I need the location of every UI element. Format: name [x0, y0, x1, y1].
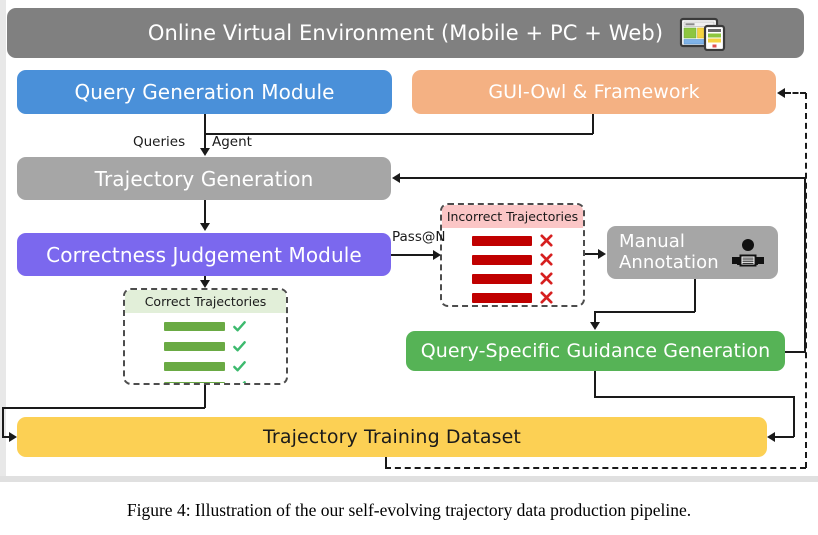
- edge-guiowl-to-junction: [205, 133, 593, 135]
- figure-caption: Figure 4: Illustration of the our self-e…: [0, 500, 818, 521]
- edge-label-agent: Agent: [212, 134, 252, 150]
- edge-arrowhead: [590, 322, 600, 330]
- card-title: Correct Trajectories: [125, 290, 286, 313]
- diagram-canvas: Online Virtual Environment (Mobile + PC …: [0, 0, 818, 482]
- edge-arrowhead: [598, 249, 606, 259]
- cross-icon: [539, 271, 554, 286]
- edge-arrowhead: [433, 250, 441, 260]
- trajectory-bar: [472, 293, 532, 303]
- list-item: [472, 233, 554, 248]
- edge-manual-down: [694, 279, 696, 312]
- incorrect-trajectory-rows: [442, 228, 583, 305]
- list-item: [472, 252, 554, 267]
- node-label: Online Virtual Environment (Mobile + PC …: [148, 21, 663, 45]
- card-title: Incorrect Trajectories: [442, 205, 583, 228]
- list-item: [472, 290, 554, 305]
- node-trajectory-training-dataset[interactable]: Trajectory Training Dataset: [17, 417, 767, 457]
- node-gui-owl-framework[interactable]: GUI-Owl & Framework: [412, 70, 776, 114]
- trajectory-bar: [472, 274, 532, 284]
- trajectory-bar: [164, 342, 225, 351]
- node-correctness-judgement-module[interactable]: Correctness Judgement Module: [17, 233, 391, 276]
- edge-arrowhead: [200, 223, 210, 231]
- figure-page: Online Virtual Environment (Mobile + PC …: [0, 0, 818, 535]
- edge-manual-left: [594, 311, 695, 313]
- edge-guidance-to-trajectory: [400, 177, 806, 179]
- edge-guidance-down: [594, 371, 596, 397]
- trajectory-bar: [164, 382, 225, 385]
- node-label: Trajectory Generation: [95, 167, 314, 191]
- check-icon: [232, 339, 247, 354]
- edge-guidance-right: [785, 351, 806, 353]
- node-query-generation-module[interactable]: Query Generation Module: [17, 70, 392, 114]
- node-label: Query Generation Module: [74, 80, 334, 104]
- edge-to-dataset-down: [793, 396, 795, 437]
- cross-icon: [539, 290, 554, 305]
- edge-label-queries: Queries: [133, 134, 185, 150]
- cross-icon: [539, 252, 554, 267]
- list-item: [164, 359, 247, 374]
- edge-dataset-right-dashed: [385, 467, 806, 469]
- check-icon: [232, 359, 247, 374]
- node-label: Trajectory Training Dataset: [263, 426, 521, 448]
- node-label: Correctness Judgement Module: [46, 243, 362, 267]
- canvas-bottom-edge: [0, 476, 818, 482]
- card-incorrect-trajectories: Incorrect Trajectories: [440, 203, 585, 307]
- edge-correctness-to-incorrect-card: [391, 254, 437, 256]
- node-online-virtual-environment[interactable]: Online Virtual Environment (Mobile + PC …: [7, 8, 804, 58]
- node-query-specific-guidance-generation[interactable]: Query-Specific Guidance Generation: [406, 331, 785, 371]
- edge-query-to-trajectory: [204, 114, 206, 150]
- trajectory-bar: [472, 255, 532, 265]
- card-correct-trajectories: Correct Trajectories: [123, 288, 288, 385]
- edge-label-pass-at-n: Pass@N: [392, 229, 445, 245]
- edge-dataset-to-guiowl-dashed: [785, 92, 806, 94]
- edge-correct-card-to-dataset: [2, 407, 4, 436]
- edge-trajectory-to-correctness: [204, 200, 206, 225]
- edge-arrowhead: [777, 88, 785, 98]
- edge-to-dataset-left: [775, 436, 794, 438]
- check-icon: [232, 319, 247, 334]
- person-at-desk-icon: [727, 237, 769, 274]
- edge-arrowhead: [200, 280, 210, 288]
- edge-arrowhead: [9, 432, 17, 442]
- list-item: [472, 271, 554, 286]
- trajectory-bar: [472, 236, 532, 246]
- correct-trajectory-rows: [125, 313, 286, 385]
- edge-guidance-right-lower: [594, 396, 795, 398]
- edge-dataset-up-dashed: [805, 93, 807, 468]
- cross-icon: [539, 233, 554, 248]
- check-icon: [232, 379, 247, 385]
- edge-correct-card-left: [2, 407, 205, 409]
- edge-guiowl-down: [592, 114, 594, 134]
- list-item: [164, 339, 247, 354]
- node-manual-annotation[interactable]: Manual Annotation: [607, 226, 778, 279]
- node-label: GUI-Owl & Framework: [488, 81, 699, 103]
- edge-arrowhead: [200, 148, 210, 156]
- edge-correct-card-down: [204, 385, 206, 408]
- edge-arrowhead: [767, 432, 775, 442]
- edge-arrowhead: [392, 173, 400, 183]
- node-trajectory-generation[interactable]: Trajectory Generation: [17, 157, 391, 200]
- node-label: Query-Specific Guidance Generation: [421, 340, 771, 362]
- list-item: [164, 319, 247, 334]
- devices-icon: [679, 17, 729, 56]
- trajectory-bar: [164, 322, 225, 331]
- trajectory-bar: [164, 362, 225, 371]
